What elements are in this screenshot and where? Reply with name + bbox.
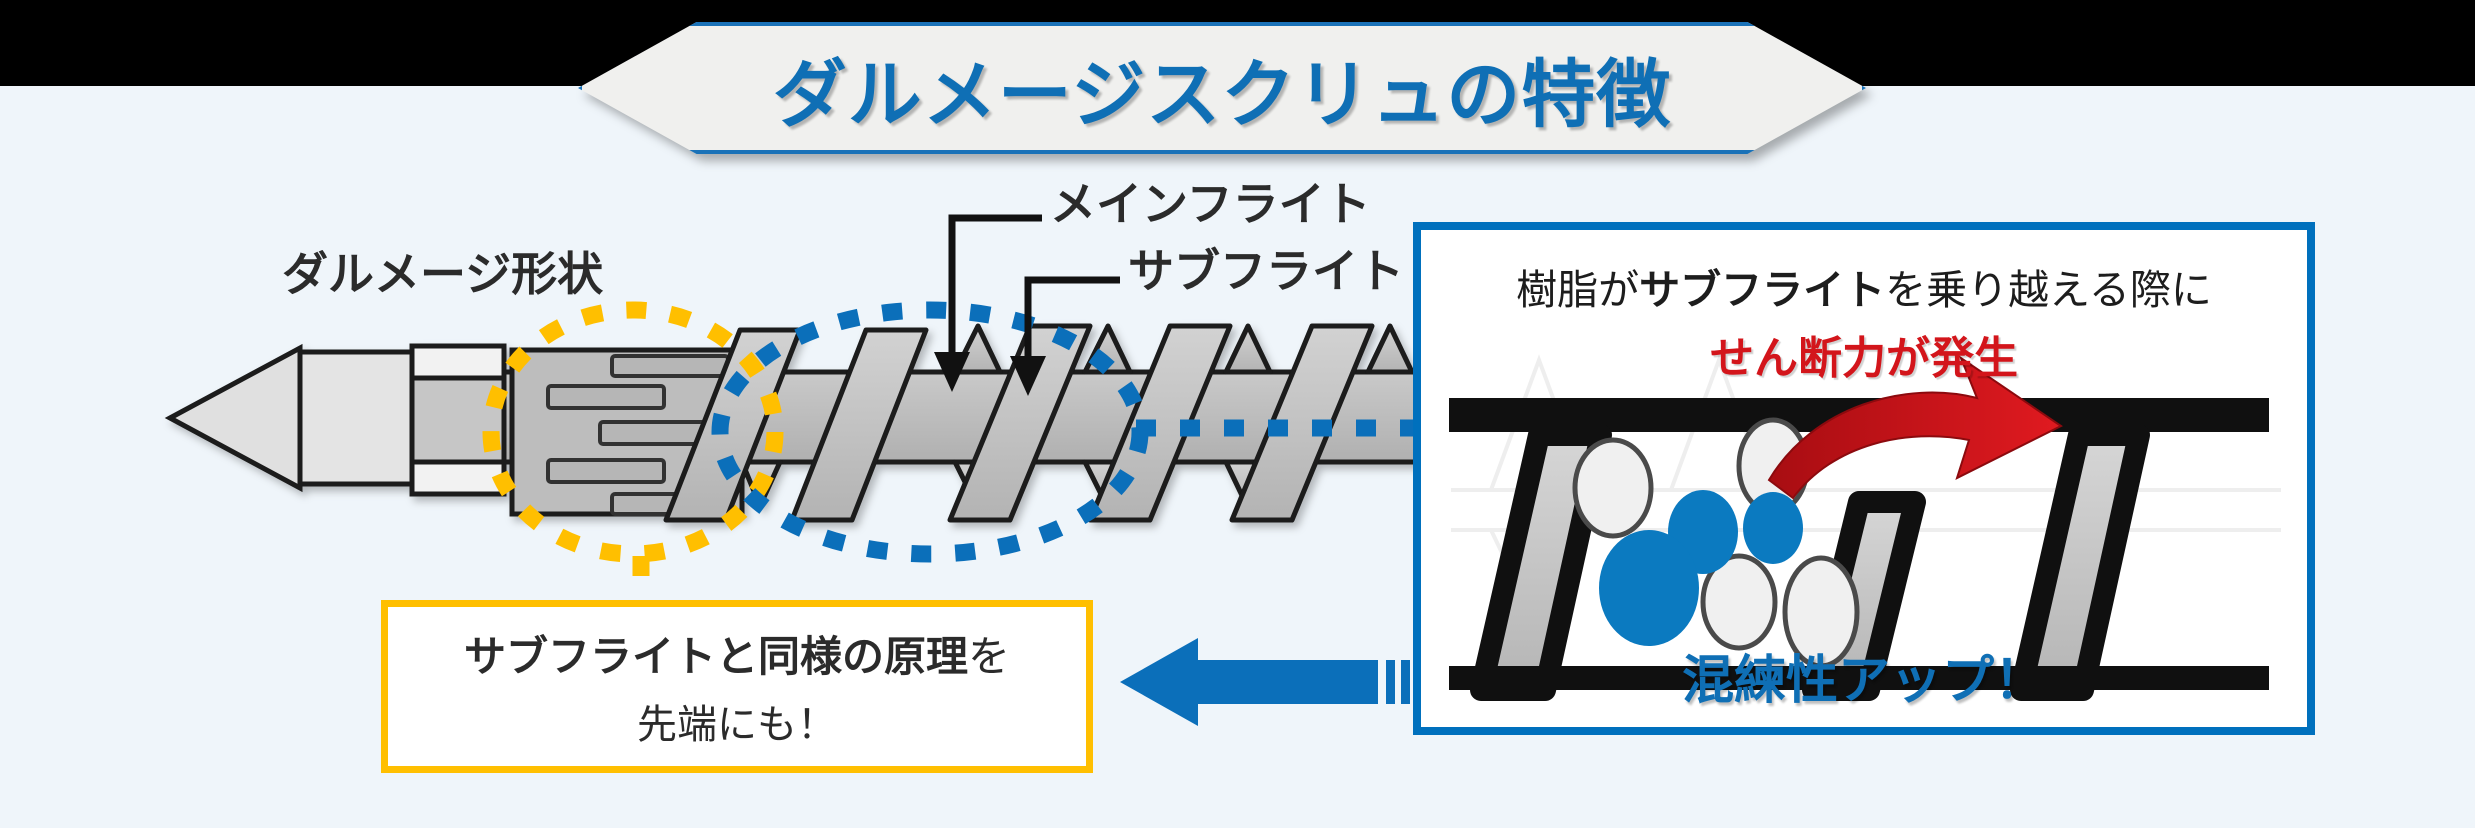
shear-detail-panel: 樹脂がサブフライトを乗り越える際に せん断力が発生 混練性アップ！ bbox=[1413, 222, 2315, 735]
yellow-callout-line1-tail: を bbox=[968, 633, 1010, 680]
panel-text-shear: せん断力が発生 bbox=[1421, 322, 2307, 386]
panel-text-bold: サブフライト bbox=[1639, 267, 1885, 313]
yellow-callout-line1: サブフライトと同様の原理を bbox=[464, 623, 1010, 684]
panel-text-post: を乗り越える際に bbox=[1885, 267, 2212, 313]
panel-text-pre: 樹脂が bbox=[1516, 267, 1639, 313]
yellow-callout-line2: 先端にも！ bbox=[637, 692, 837, 750]
blue-left-arrow-icon bbox=[1120, 630, 1420, 735]
yellow-callout-box: サブフライトと同様の原理を 先端にも！ bbox=[381, 600, 1093, 773]
panel-text-result: 混練性アップ！ bbox=[1421, 638, 2307, 713]
panel-text-primary: 樹脂がサブフライトを乗り越える際に bbox=[1421, 256, 2307, 316]
screw-tip-cone bbox=[170, 348, 300, 488]
slide-canvas: ダルメージスクリュの特徴 ダルメージ形状 メインフライト サブフライト bbox=[0, 0, 2475, 828]
yellow-callout-line1-bold: サブフライトと同様の原理 bbox=[464, 633, 968, 680]
screw-tip-cylinder bbox=[300, 352, 412, 484]
